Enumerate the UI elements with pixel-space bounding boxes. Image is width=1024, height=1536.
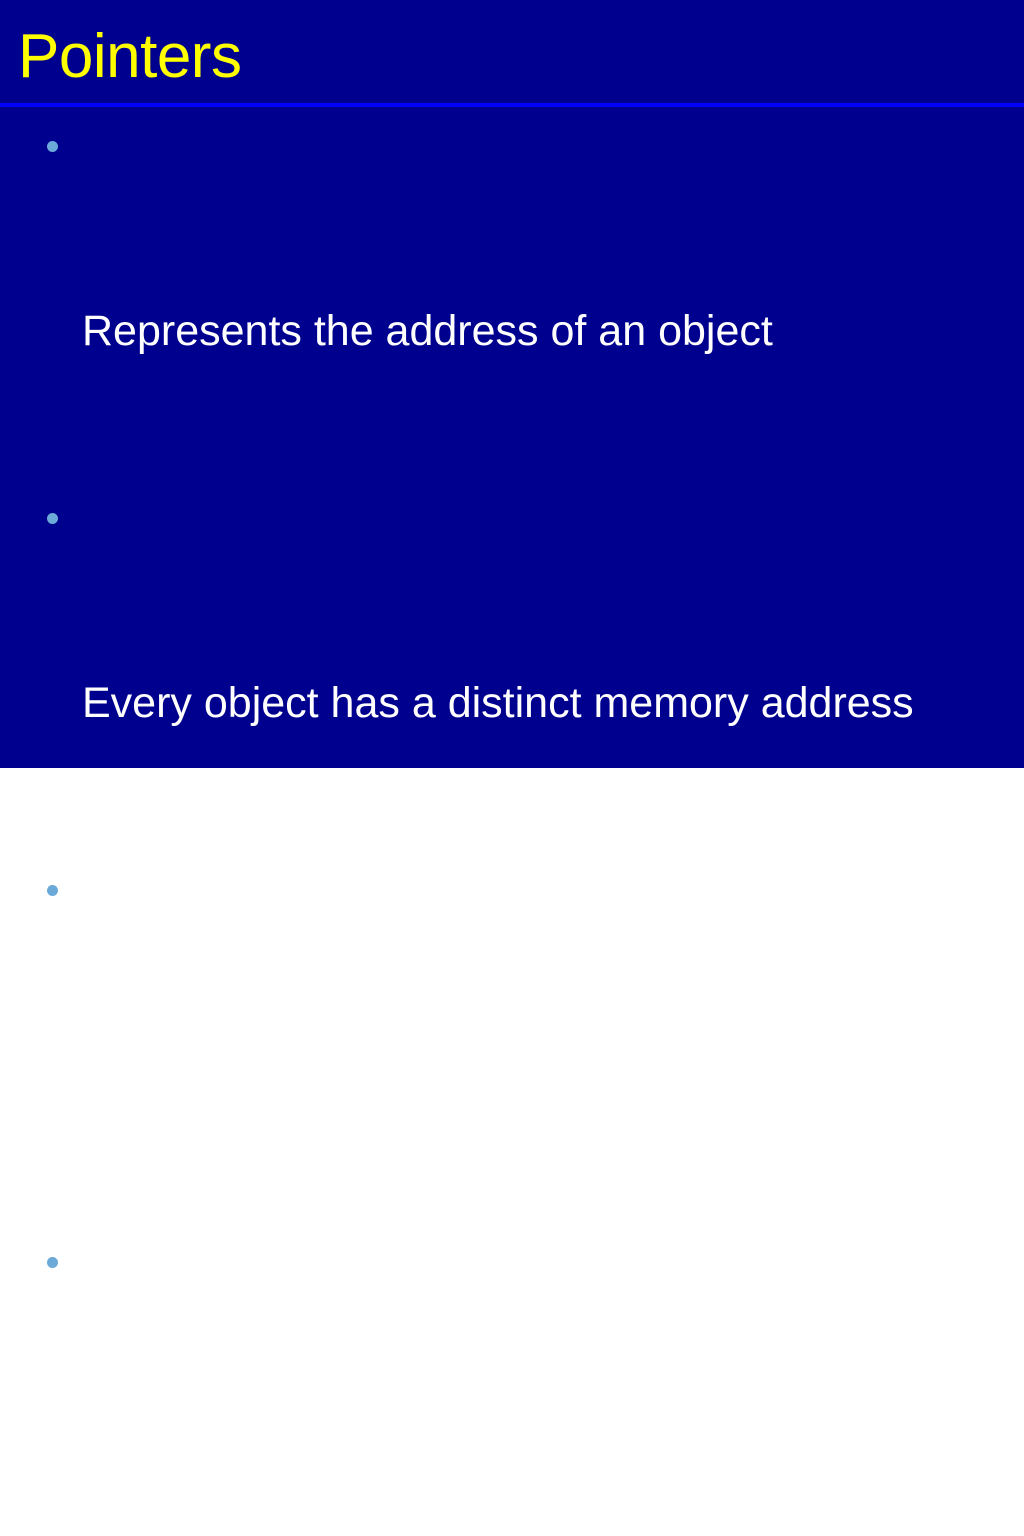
page-title: Pointers: [18, 22, 241, 92]
bullet-dot-icon: [47, 513, 58, 524]
list-item-label: Represents the address of an object: [82, 300, 1024, 362]
presentation-slide: Pointers Represents the address of an ob…: [0, 0, 1024, 768]
list-item: Every object has a distinct memory addre…: [0, 486, 1024, 858]
title-divider: [0, 103, 1024, 107]
bullet-dot-icon: [47, 1257, 58, 1268]
list-item-label: Every object has a distinct memory addre…: [82, 672, 1024, 734]
list-item-label: C++ allows you to access that address: [82, 1044, 1024, 1106]
bullet-list: Represents the address of an object Ever…: [0, 114, 1024, 1536]
list-item-label: Pointers store these addresses: [82, 1416, 1024, 1478]
list-item: Pointers store these addresses: [0, 1230, 1024, 1536]
bullet-dot-icon: [47, 885, 58, 896]
bullet-dot-icon: [47, 141, 58, 152]
list-item: C++ allows you to access that address: [0, 858, 1024, 1230]
list-item: Represents the address of an object: [0, 114, 1024, 486]
